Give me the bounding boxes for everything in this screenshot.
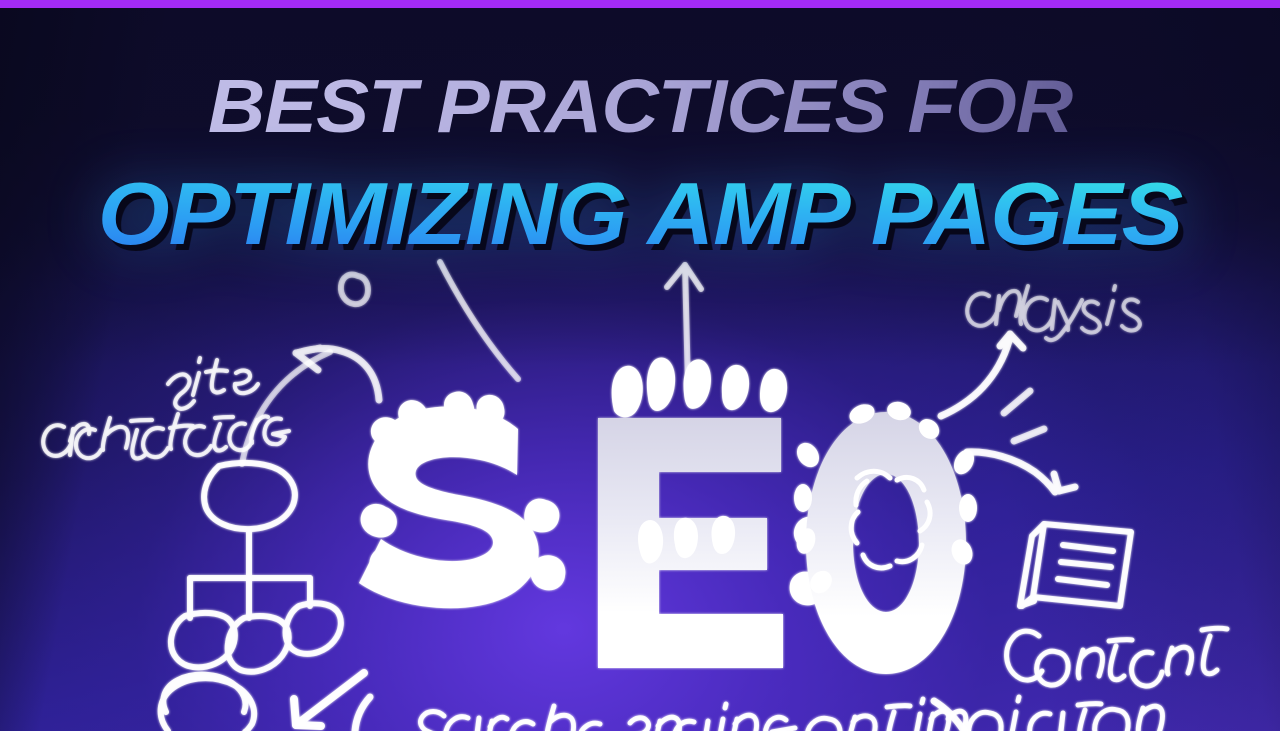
seo-letters [359,358,978,674]
document-lines-icon [1020,524,1131,606]
seo-doodle-artwork [0,0,1280,731]
label-content [1007,628,1227,686]
top-accent-bar [0,0,1280,8]
decorative-loop-top-left [341,275,368,305]
decorative-curve-top [440,262,518,379]
label-site-architecture [43,358,289,458]
decorative-ticks-right [1004,391,1044,441]
arrow-to-site-architecture-icon [296,348,379,400]
magnifier-icon [161,675,254,731]
arrow-to-content-icon [967,452,1075,492]
amp-seo-banner: BEST PRACTICES FOR OPTIMIZING AMP PAGES [0,0,1280,731]
label-search-engine-optimization [417,697,1163,731]
arrow-to-magnifier-icon [294,673,364,726]
sitemap-tree-icon [171,463,341,672]
decorative-curve-bottom-left [355,697,370,731]
label-analysis [967,286,1140,340]
